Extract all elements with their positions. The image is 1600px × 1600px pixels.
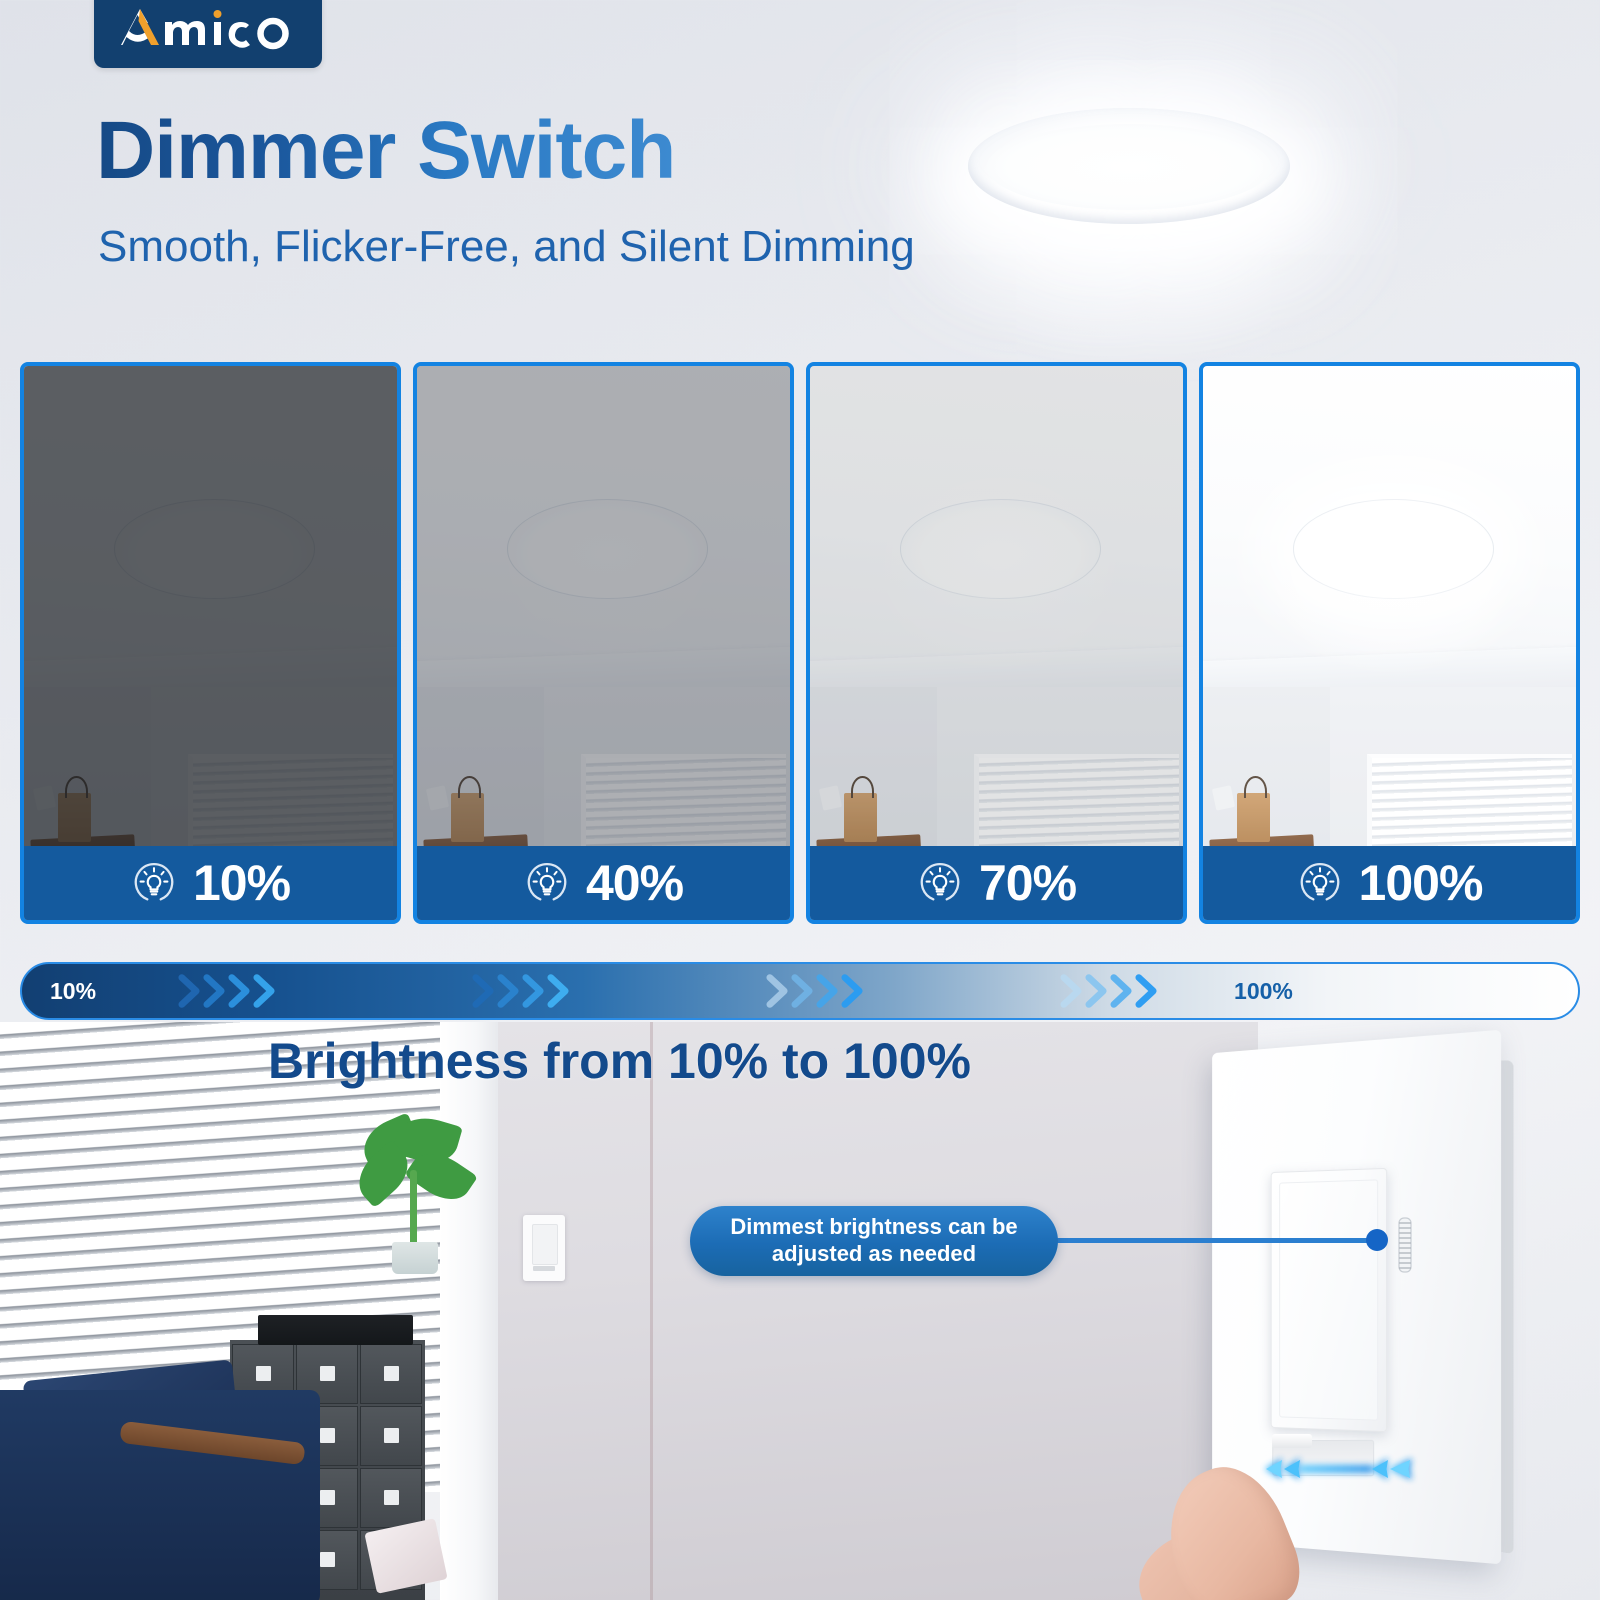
- page-subtitle: Smooth, Flicker-Free, and Silent Dimming: [98, 222, 915, 272]
- wall-seam: [650, 1022, 653, 1600]
- brightness-slider-knob[interactable]: [1272, 1434, 1312, 1448]
- brightness-value: 100%: [1359, 858, 1483, 908]
- chevron-right-icon: [816, 974, 839, 1008]
- chevron-right-icon: [1085, 974, 1108, 1008]
- potted-plant: [352, 1118, 482, 1278]
- back-wall: [498, 1022, 1258, 1600]
- brightness-value: 40%: [586, 858, 683, 908]
- chevron-right-icon: [253, 974, 276, 1008]
- chevron-right-icon: [178, 974, 201, 1008]
- brand-logo-badge: [94, 0, 322, 68]
- bottom-headline: Brightness from 10% to 100%: [268, 1032, 971, 1090]
- chevron-right-icon: [547, 974, 570, 1008]
- chevron-right-icon: [522, 974, 545, 1008]
- brightness-badge: 10%: [24, 846, 397, 920]
- callout-pointer-dot: [1366, 1229, 1388, 1251]
- room-scene: [417, 366, 790, 920]
- chevron-right-icon: [766, 974, 789, 1008]
- drawer: [360, 1406, 422, 1466]
- ceiling-light-icon: [968, 108, 1290, 224]
- plant-pot: [392, 1242, 438, 1274]
- chevron-group: [472, 974, 570, 1008]
- brightness-panel[interactable]: 10%: [20, 362, 401, 924]
- page-title: Dimmer Switch: [96, 104, 675, 198]
- callout-line-2: adjusted as needed: [730, 1241, 1017, 1268]
- amico-logo-icon: [115, 1, 301, 53]
- wall-dimmer-switch[interactable]: [523, 1215, 565, 1281]
- chevron-right-icon: [472, 974, 495, 1008]
- rocker-inner: [1279, 1179, 1378, 1420]
- bulb-brightness-icon: [917, 860, 963, 906]
- dimmer-switch-product[interactable]: [1150, 1020, 1600, 1600]
- brightness-panel[interactable]: 100%: [1199, 362, 1580, 924]
- slide-direction-arrow-icon: [1260, 1452, 1420, 1486]
- ceiling-lamp: [507, 499, 708, 599]
- gradient-bar-max-label: 100%: [1234, 980, 1293, 1003]
- paper-bag: [844, 793, 878, 843]
- bulb-brightness-icon: [1297, 860, 1343, 906]
- chevron-right-icon: [1060, 974, 1083, 1008]
- chevron-right-icon: [791, 974, 814, 1008]
- brightness-panel[interactable]: 40%: [413, 362, 794, 924]
- plant-stem: [410, 1170, 417, 1248]
- room-scene: [810, 366, 1183, 920]
- paper-bag: [451, 793, 485, 843]
- paper-bag: [58, 793, 92, 843]
- brightness-panel-row: 10%: [20, 362, 1580, 924]
- wall-corner: [440, 1022, 500, 1600]
- record-player: [258, 1315, 413, 1345]
- paper-bag: [1237, 793, 1271, 843]
- callout-pointer-line: [1046, 1238, 1374, 1243]
- chevron-group: [178, 974, 276, 1008]
- dimmer-trim-wheel[interactable]: [1390, 1216, 1420, 1274]
- chevron-group: [766, 974, 864, 1008]
- room-scene: [24, 366, 397, 920]
- chevron-right-icon: [841, 974, 864, 1008]
- drawer: [360, 1468, 422, 1528]
- callout-line-1: Dimmest brightness can be: [730, 1214, 1017, 1241]
- ceiling-lamp: [900, 499, 1101, 599]
- brightness-badge: 70%: [810, 846, 1183, 920]
- armchair: [0, 1390, 320, 1600]
- brightness-badge: 40%: [417, 846, 790, 920]
- brightness-gradient-bar[interactable]: 10% 100%: [20, 962, 1580, 1020]
- chevron-group: [1060, 974, 1158, 1008]
- gradient-bar-min-label: 10%: [50, 980, 96, 1003]
- brightness-value: 10%: [193, 858, 290, 908]
- room-scene: [1203, 366, 1576, 920]
- callout-tooltip: Dimmest brightness can be adjusted as ne…: [690, 1206, 1058, 1276]
- drawer: [360, 1344, 422, 1404]
- ceiling-lamp: [1293, 499, 1494, 599]
- brightness-panel[interactable]: 70%: [806, 362, 1187, 924]
- brightness-value: 70%: [979, 858, 1076, 908]
- chevron-right-icon: [1135, 974, 1158, 1008]
- chevron-right-icon: [1110, 974, 1133, 1008]
- chevron-right-icon: [497, 974, 520, 1008]
- chevron-right-icon: [228, 974, 251, 1008]
- bulb-brightness-icon: [524, 860, 570, 906]
- brightness-badge: 100%: [1203, 846, 1576, 920]
- callout-text: Dimmest brightness can be adjusted as ne…: [730, 1214, 1017, 1268]
- chevron-right-icon: [203, 974, 226, 1008]
- bulb-brightness-icon: [131, 860, 177, 906]
- rocker-paddle[interactable]: [1271, 1168, 1387, 1432]
- ceiling-lamp: [114, 499, 315, 599]
